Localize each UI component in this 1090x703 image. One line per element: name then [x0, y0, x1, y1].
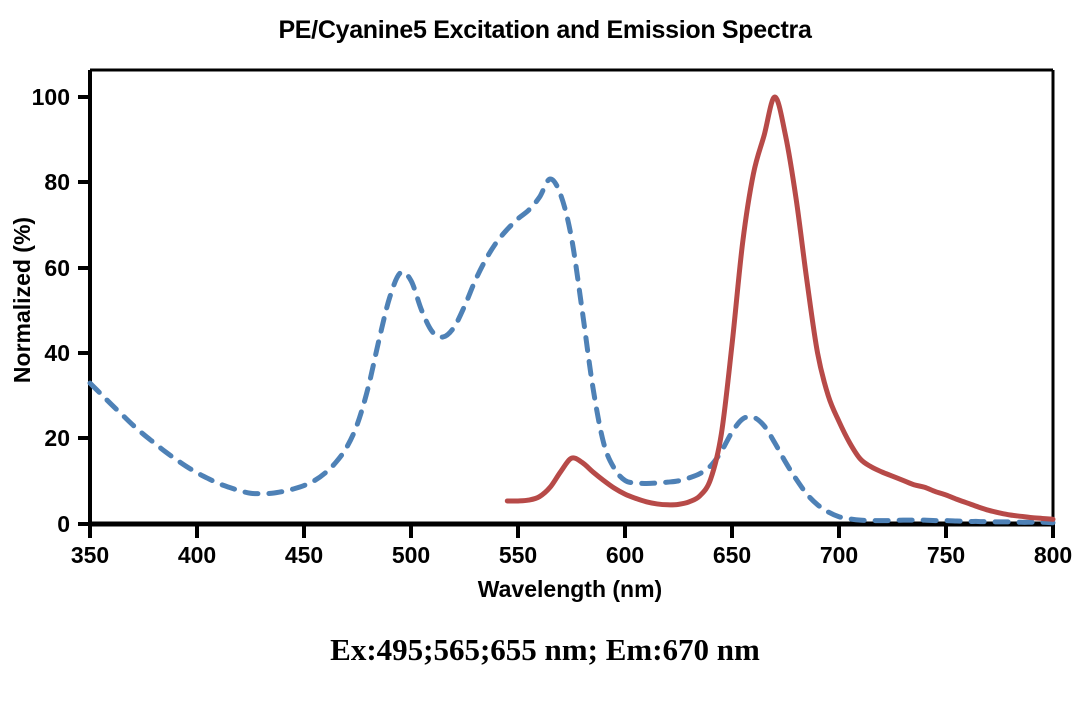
x-axis-label: Wavelength (nm)	[478, 576, 662, 602]
y-tick-label-40: 40	[44, 340, 70, 366]
x-tick-label-650: 650	[713, 542, 751, 568]
y-axis-label: Normalized (%)	[9, 217, 35, 383]
y-tick-label-60: 60	[44, 255, 70, 281]
y-tick-label-80: 80	[44, 169, 70, 195]
x-ticks: 350 400 450 500 550 600 650 700 750 800	[71, 524, 1072, 568]
x-tick-label-700: 700	[820, 542, 858, 568]
x-tick-label-450: 450	[285, 542, 323, 568]
spectra-figure: PE/Cyanine5 Excitation and Emission Spec…	[0, 0, 1090, 703]
x-tick-label-500: 500	[392, 542, 430, 568]
y-tick-label-100: 100	[32, 84, 70, 110]
emission-curve	[507, 97, 1053, 519]
x-tick-label-400: 400	[178, 542, 216, 568]
y-tick-label-0: 0	[57, 511, 70, 537]
x-tick-label-800: 800	[1034, 542, 1072, 568]
figure-caption: Ex:495;565;655 nm; Em:670 nm	[0, 632, 1090, 668]
x-tick-label-550: 550	[499, 542, 537, 568]
excitation-curve	[90, 179, 1053, 523]
x-tick-label-350: 350	[71, 542, 109, 568]
spectra-plot: 0 20 40 60 80 100 350 400 450 500 550 60…	[0, 0, 1090, 703]
y-tick-label-20: 20	[44, 425, 70, 451]
x-tick-label-750: 750	[927, 542, 965, 568]
x-tick-label-600: 600	[606, 542, 644, 568]
y-ticks: 0 20 40 60 80 100	[32, 84, 90, 537]
